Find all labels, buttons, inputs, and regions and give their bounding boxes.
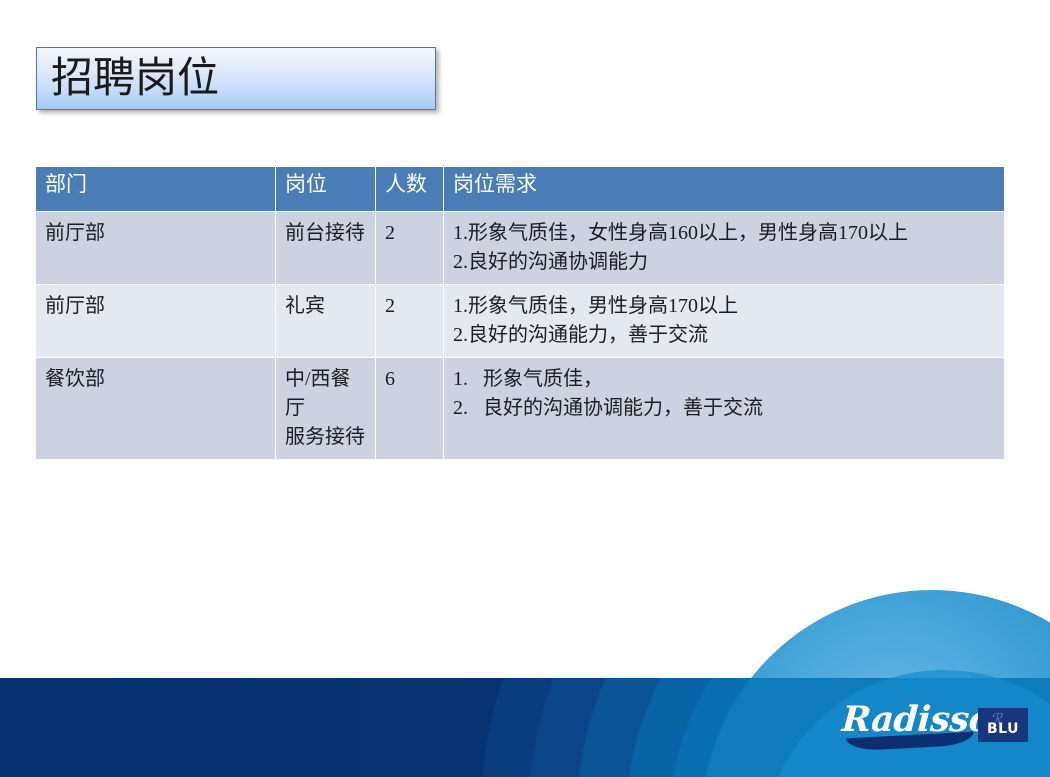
requirement-line: 1.形象气质佳，女性身高160以上，男性身高170以上 xyxy=(453,219,995,248)
column-header-headcount: 人数 xyxy=(376,167,444,212)
cell-department: 前厅部 xyxy=(36,285,276,358)
logo-blu-badge: ℛ BLU xyxy=(978,708,1028,742)
radisson-blu-logo: Radisson ℛ BLU xyxy=(842,700,1032,762)
requirement-line: 2.良好的沟通协调能力 xyxy=(453,248,995,277)
slide-canvas: 招聘岗位 部门 岗位 人数 岗位需求 前厅部前台接待21.形象气质佳，女性身高1… xyxy=(0,0,1050,777)
cell-position: 中/西餐厅 服务接待 xyxy=(276,358,376,460)
cell-department: 前厅部 xyxy=(36,212,276,285)
requirement-line: 2.良好的沟通能力，善于交流 xyxy=(453,321,995,350)
recruitment-table: 部门 岗位 人数 岗位需求 前厅部前台接待21.形象气质佳，女性身高160以上，… xyxy=(35,166,1005,460)
cell-headcount: 2 xyxy=(376,285,444,358)
table-row: 前厅部前台接待21.形象气质佳，女性身高160以上，男性身高170以上2.良好的… xyxy=(36,212,1005,285)
cell-requirements: 1.形象气质佳，女性身高160以上，男性身高170以上2.良好的沟通协调能力 xyxy=(444,212,1005,285)
cell-position: 前台接待 xyxy=(276,212,376,285)
requirement-line: 2. 良好的沟通协调能力，善于交流 xyxy=(453,394,995,423)
cell-requirements: 1. 形象气质佳，2. 良好的沟通协调能力，善于交流 xyxy=(444,358,1005,460)
cell-headcount: 2 xyxy=(376,212,444,285)
cell-requirements: 1.形象气质佳，男性身高170以上2.良好的沟通能力，善于交流 xyxy=(444,285,1005,358)
table-row: 餐饮部中/西餐厅 服务接待61. 形象气质佳，2. 良好的沟通协调能力，善于交流 xyxy=(36,358,1005,460)
page-title: 招聘岗位 xyxy=(51,51,219,107)
table-row: 前厅部礼宾21.形象气质佳，男性身高170以上2.良好的沟通能力，善于交流 xyxy=(36,285,1005,358)
cell-department: 餐饮部 xyxy=(36,358,276,460)
table-body: 前厅部前台接待21.形象气质佳，女性身高160以上，男性身高170以上2.良好的… xyxy=(36,212,1005,460)
logo-blu-text: BLU xyxy=(978,721,1028,737)
requirement-line: 1.形象气质佳，男性身高170以上 xyxy=(453,292,995,321)
column-header-position: 岗位 xyxy=(276,167,376,212)
column-header-department: 部门 xyxy=(36,167,276,212)
requirement-line: 1. 形象气质佳， xyxy=(453,365,995,394)
table-header-row: 部门 岗位 人数 岗位需求 xyxy=(36,167,1005,212)
table-header: 部门 岗位 人数 岗位需求 xyxy=(36,167,1005,212)
cell-position: 礼宾 xyxy=(276,285,376,358)
cell-headcount: 6 xyxy=(376,358,444,460)
column-header-requirements: 岗位需求 xyxy=(444,167,1005,212)
page-title-box: 招聘岗位 xyxy=(36,47,436,110)
